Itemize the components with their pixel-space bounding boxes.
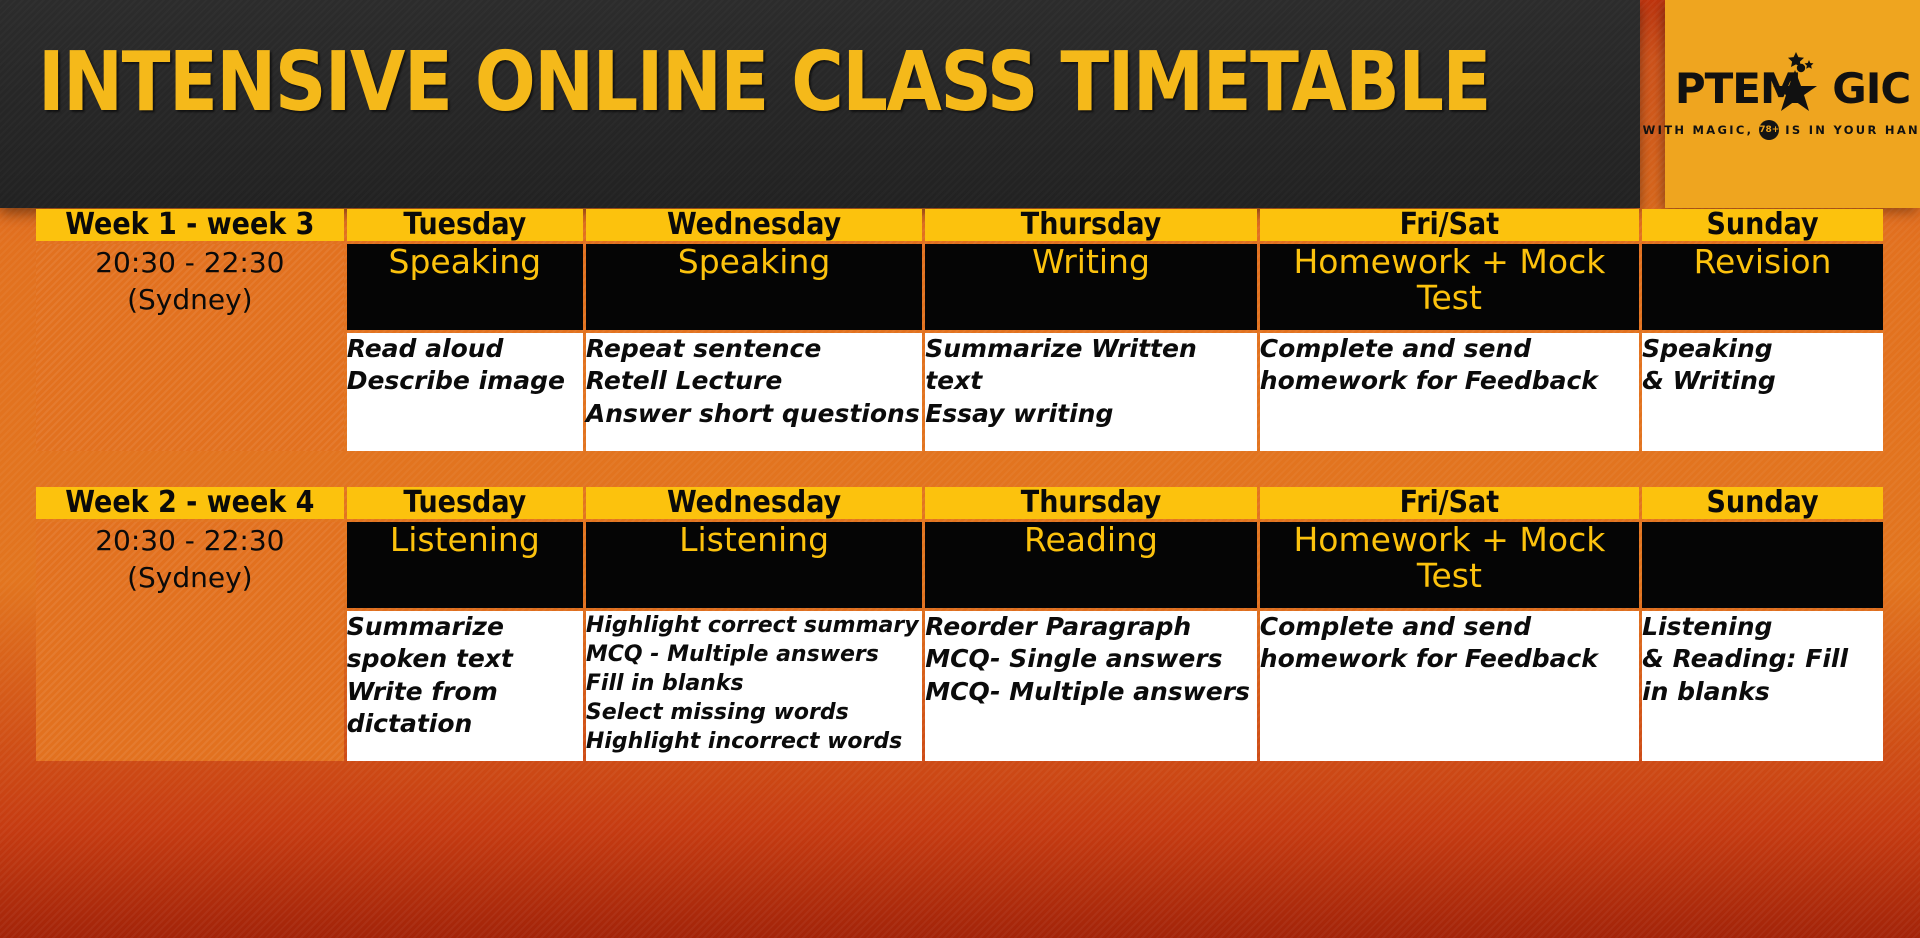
logo-wordmark: PTEMAGIC <box>1675 68 1910 110</box>
timetable-week2-week4: Week 2 - week 4 Tuesday Wednesday Thursd… <box>33 484 1886 764</box>
slide-canvas: INTENSIVE ONLINE CLASS TIMETABLE PTEMAGI… <box>0 0 1920 938</box>
timetable-week1-week3: Week 1 - week 3 Tuesday Wednesday Thursd… <box>33 206 1886 454</box>
score-badge-78plus: 78+ <box>1759 120 1779 140</box>
subject-cell-thursday: Reading <box>925 522 1257 608</box>
logo-text-gic: GIC <box>1832 68 1910 110</box>
detail-cell-tuesday: Summarize spoken text Write from dictati… <box>347 611 583 761</box>
table-row-subjects: 20:30 - 22:30 (Sydney) Listening Listeni… <box>36 522 1883 608</box>
table-header-row: Week 1 - week 3 Tuesday Wednesday Thursd… <box>36 209 1883 241</box>
col-header-tuesday: Tuesday <box>347 209 583 241</box>
detail-cell-frisat: Complete and send homework for Feedback <box>1260 611 1639 761</box>
time-slot-cell: 20:30 - 22:30 (Sydney) <box>36 522 344 761</box>
col-header-week: Week 2 - week 4 <box>36 487 344 519</box>
col-header-frisat: Fri/Sat <box>1260 487 1639 519</box>
subject-cell-frisat: Homework + Mock Test <box>1260 522 1639 608</box>
detail-cell-frisat: Complete and send homework for Feedback <box>1260 333 1639 451</box>
logo-text-m: M <box>1760 68 1801 110</box>
table-row-subjects: 20:30 - 22:30 (Sydney) Speaking Speaking… <box>36 244 1883 330</box>
logo-tagline-suffix: IS IN YOUR HANDS <box>1785 123 1920 137</box>
detail-cell-wednesday: Repeat sentence Retell Lecture Answer sh… <box>586 333 922 451</box>
subject-cell-sunday: Revision <box>1642 244 1883 330</box>
page-title: INTENSIVE ONLINE CLASS TIMETABLE <box>38 42 1490 124</box>
detail-cell-thursday: Summarize Written text Essay writing <box>925 333 1257 451</box>
col-header-frisat: Fri/Sat <box>1260 209 1639 241</box>
header-bar: INTENSIVE ONLINE CLASS TIMETABLE <box>0 0 1640 208</box>
col-header-sunday: Sunday <box>1642 487 1883 519</box>
col-header-thursday: Thursday <box>925 487 1257 519</box>
detail-cell-thursday: Reorder Paragraph MCQ- Single answers MC… <box>925 611 1257 761</box>
col-header-tuesday: Tuesday <box>347 487 583 519</box>
col-header-wednesday: Wednesday <box>586 209 922 241</box>
subject-cell-tuesday: Listening <box>347 522 583 608</box>
logo-tagline: WITH MAGIC, 78+ IS IN YOUR HANDS <box>1643 120 1920 140</box>
col-header-week: Week 1 - week 3 <box>36 209 344 241</box>
subject-cell-wednesday: Listening <box>586 522 922 608</box>
detail-cell-sunday: Listening & Reading: Fill in blanks <box>1642 611 1883 761</box>
col-header-wednesday: Wednesday <box>586 487 922 519</box>
detail-cell-wednesday: Highlight correct summary MCQ - Multiple… <box>586 611 922 761</box>
detail-cell-tuesday: Read aloud Describe image <box>347 333 583 451</box>
subject-cell-frisat: Homework + Mock Test <box>1260 244 1639 330</box>
brand-logo-panel: PTEMAGIC WITH MAGIC, 78+ IS IN YOUR HAND… <box>1665 0 1920 208</box>
subject-cell-sunday <box>1642 522 1883 608</box>
subject-cell-wednesday: Speaking <box>586 244 922 330</box>
subject-cell-thursday: Writing <box>925 244 1257 330</box>
time-slot-cell: 20:30 - 22:30 (Sydney) <box>36 244 344 451</box>
detail-cell-sunday: Speaking & Writing <box>1642 333 1883 451</box>
table-header-row: Week 2 - week 4 Tuesday Wednesday Thursd… <box>36 487 1883 519</box>
logo-tagline-prefix: WITH MAGIC, <box>1643 123 1754 137</box>
col-header-thursday: Thursday <box>925 209 1257 241</box>
subject-cell-tuesday: Speaking <box>347 244 583 330</box>
logo-text-pte: PTE <box>1675 68 1760 110</box>
col-header-sunday: Sunday <box>1642 209 1883 241</box>
